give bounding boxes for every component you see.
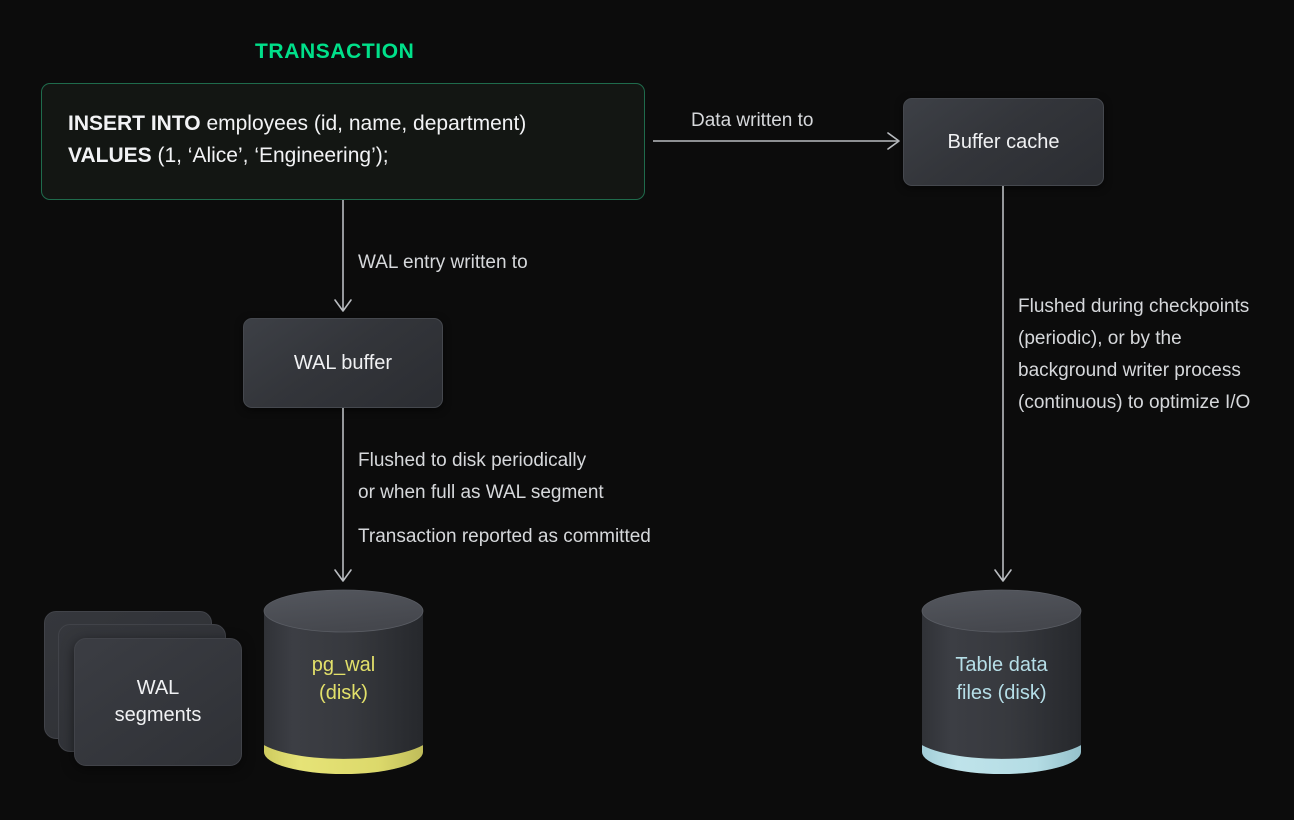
edge-label-transaction-committed: Transaction reported as committed xyxy=(358,521,651,553)
sql-keyword-insert-into: INSERT INTO xyxy=(68,112,201,135)
node-wal-segments[interactable]: WAL segments xyxy=(44,611,244,766)
sql-line-2-rest: (1, ‘Alice’, ‘Engineering’); xyxy=(152,144,389,167)
edge-label-flushed-to-disk: Flushed to disk periodically or when ful… xyxy=(358,445,604,509)
transaction-title: TRANSACTION xyxy=(255,40,414,64)
node-table-data-files[interactable]: Table data files (disk) xyxy=(920,589,1083,774)
sql-statement: INSERT INTO employees (id, name, departm… xyxy=(68,108,526,172)
node-wal-buffer-label: WAL buffer xyxy=(294,352,392,375)
wal-segment-card-front: WAL segments xyxy=(74,638,242,766)
node-pg-wal-disk[interactable]: pg_wal (disk) xyxy=(262,589,425,774)
node-wal-buffer[interactable]: WAL buffer xyxy=(243,318,443,408)
node-buffer-cache-label: Buffer cache xyxy=(948,131,1060,154)
node-wal-segments-label: WAL segments xyxy=(115,675,202,729)
edge-label-data-written-to: Data written to xyxy=(691,105,814,137)
arrow-transaction-to-wal-buffer xyxy=(334,200,354,318)
diagram-canvas: TRANSACTION INSERT INTO employees (id, n… xyxy=(0,0,1294,820)
sql-keyword-values: VALUES xyxy=(68,144,152,167)
sql-line-1-rest: employees (id, name, department) xyxy=(201,112,527,135)
node-buffer-cache[interactable]: Buffer cache xyxy=(903,98,1104,186)
edge-label-wal-entry-written-to: WAL entry written to xyxy=(358,247,528,279)
edge-label-flushed-during-checkpoints: Flushed during checkpoints (periodic), o… xyxy=(1018,291,1258,419)
sql-line-1: INSERT INTO employees (id, name, departm… xyxy=(68,108,526,140)
arrow-wal-buffer-to-pg-wal xyxy=(334,408,354,588)
pg-wal-cylinder-shape xyxy=(262,589,425,774)
sql-line-2: VALUES (1, ‘Alice’, ‘Engineering’); xyxy=(68,140,526,172)
table-data-cylinder-shape xyxy=(920,589,1083,774)
arrow-buffer-cache-to-table-data-files xyxy=(994,186,1014,588)
